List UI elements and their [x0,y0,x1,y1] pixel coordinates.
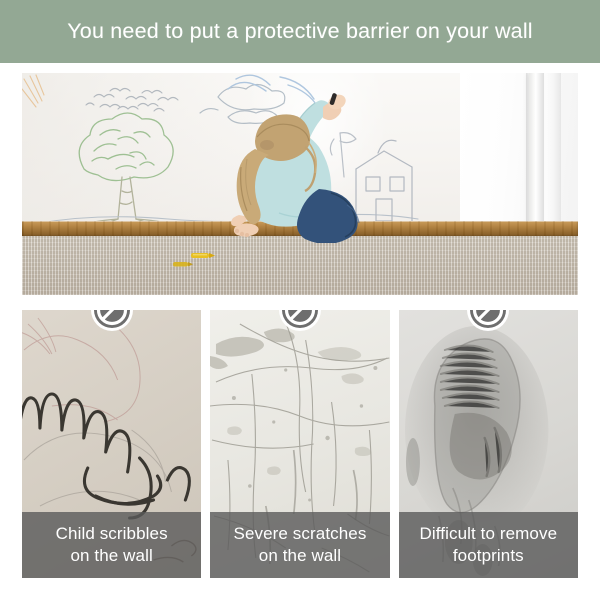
door-jamb [529,73,544,237]
panel-caption: Difficult to remove footprints [399,512,578,578]
page-title: You need to put a protective barrier on … [67,19,533,44]
caption-line-1: Difficult to remove [420,524,558,543]
caption-line-2: footprints [453,546,524,565]
crayon-on-floor-2 [172,259,194,271]
hero-photo [22,73,578,295]
problem-panels: Child scribbles on the wall [22,310,578,578]
prohibition-icon [278,310,322,332]
promo-banner: You need to put a protective barrier on … [0,0,600,600]
prohibition-icon [90,310,134,332]
child-figure [227,93,407,243]
door-edge [543,73,561,237]
carpet-texture [22,236,578,295]
caption-line-2: on the wall [70,546,152,565]
caption-line-1: Severe scratches [234,524,367,543]
prohibition-icon [466,310,510,332]
carpet-floor [22,236,578,295]
panel-severe-scratches: Severe scratches on the wall [210,310,389,578]
panel-difficult-footprints: Difficult to remove footprints [399,310,578,578]
panel-caption: Child scribbles on the wall [22,512,201,578]
panel-caption: Severe scratches on the wall [210,512,389,578]
caption-line-1: Child scribbles [56,524,168,543]
panel-child-scribbles: Child scribbles on the wall [22,310,201,578]
header-bar: You need to put a protective barrier on … [0,0,600,63]
caption-line-2: on the wall [259,546,341,565]
